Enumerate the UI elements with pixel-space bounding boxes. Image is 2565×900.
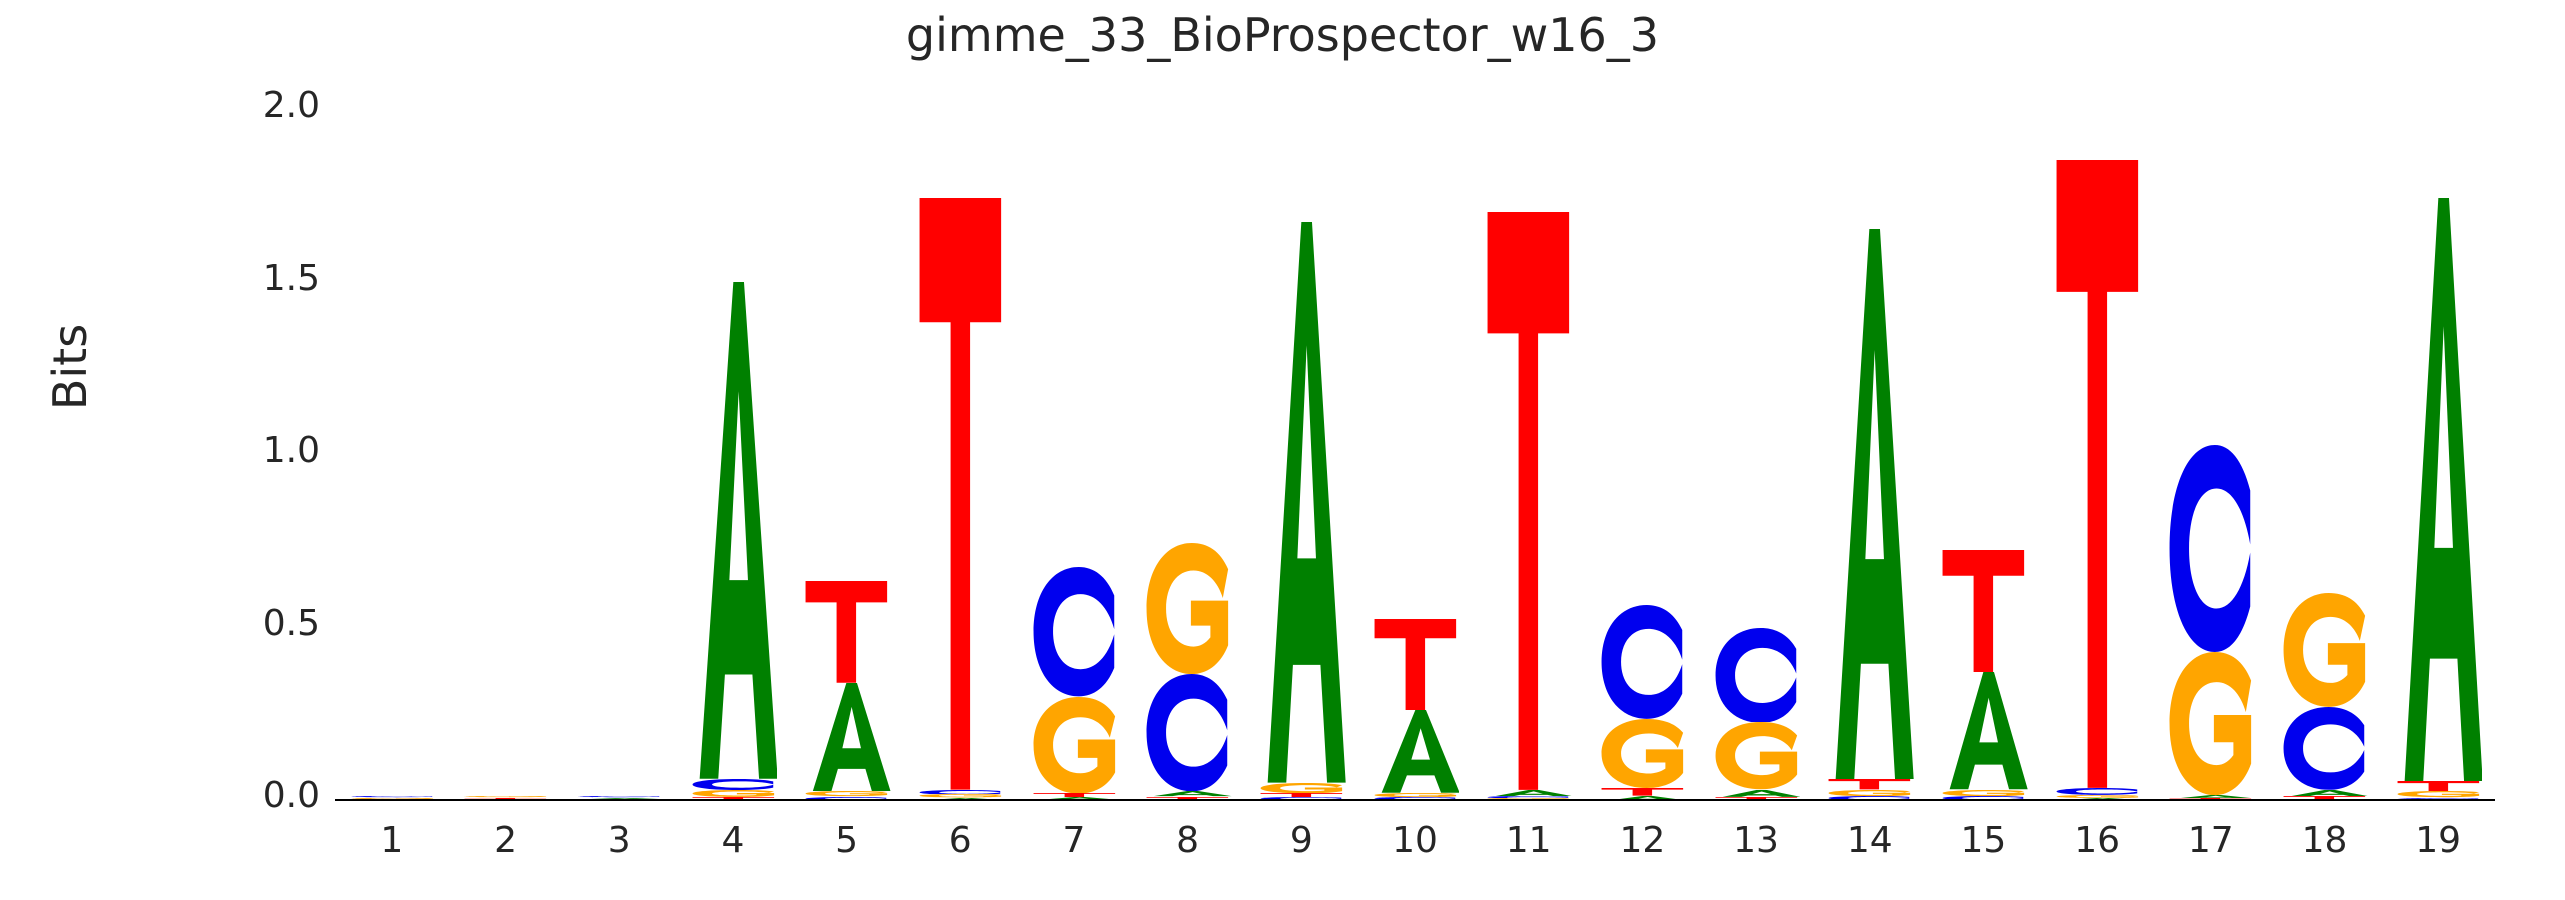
logo-letter-g [2280, 593, 2369, 707]
logo-letter-c [2053, 788, 2142, 795]
logo-letter-t [1371, 619, 1460, 710]
logo-letter-g [2166, 652, 2255, 795]
logo-letter-c [1712, 628, 1801, 723]
logo-letter-g [1939, 790, 2028, 796]
logo-letter-a [1143, 791, 1232, 796]
logo-letter-c [2280, 707, 2369, 790]
x-tick-label: 8 [1143, 820, 1233, 861]
logo-letter-c [2166, 445, 2255, 652]
logo-letter-a [1939, 672, 2028, 789]
logo-letter-c [689, 779, 778, 790]
x-tick-label: 17 [2166, 820, 2256, 861]
logo-letter-g [1371, 793, 1460, 797]
logo-letter-g [2053, 795, 2142, 798]
x-tick-label: 4 [688, 820, 778, 861]
logo-letter-t [1825, 779, 1914, 789]
logo-letter-a [2280, 790, 2369, 796]
x-tick-label: 18 [2279, 820, 2369, 861]
logo-letter-t [2394, 781, 2483, 791]
logo-letter-t [916, 198, 1005, 790]
logo-letter-c [1143, 674, 1232, 791]
logo-letter-t [1598, 788, 1687, 796]
x-tick-label: 1 [347, 820, 437, 861]
logo-plot-area [0, 0, 2565, 900]
logo-letter-t [802, 581, 891, 683]
logo-letter-g [1030, 697, 1119, 794]
logo-letter-g [689, 790, 778, 797]
x-tick-label: 6 [915, 820, 1005, 861]
logo-letter-c [575, 796, 664, 797]
logo-letter-t [1030, 793, 1119, 797]
logo-letter-t [1257, 793, 1346, 797]
logo-letter-a [1484, 790, 1573, 796]
x-tick-label: 5 [802, 820, 892, 861]
logo-letter-c [1030, 567, 1119, 696]
x-tick-label: 12 [1597, 820, 1687, 861]
logo-letter-g [1257, 783, 1346, 793]
x-tick-label: 3 [574, 820, 664, 861]
x-tick-label: 2 [461, 820, 551, 861]
logo-letter-g [461, 796, 550, 797]
logo-letter-g [1143, 543, 1232, 674]
logo-letter-g [2394, 791, 2483, 797]
logo-letter-a [2166, 795, 2255, 798]
logo-letter-a [1257, 222, 1346, 783]
logo-letter-a [1712, 790, 1801, 797]
logo-letter-c [916, 790, 1005, 795]
logo-letter-c [348, 796, 437, 797]
logo-letter-g [1825, 790, 1914, 796]
logo-letter-g [1598, 719, 1687, 788]
logo-letter-t [1939, 550, 2028, 672]
logo-letter-a [1371, 710, 1460, 793]
x-tick-label: 16 [2052, 820, 2142, 861]
logo-letter-g [916, 794, 1005, 797]
sequence-logo-figure: gimme_33_BioProspector_w16_3 Bits 0.00.5… [0, 0, 2565, 900]
x-tick-label: 15 [1938, 820, 2028, 861]
x-tick-label: 19 [2393, 820, 2483, 861]
logo-letter-t [1484, 212, 1573, 790]
logo-letter-a [689, 282, 778, 779]
logo-letter-c [1484, 796, 1573, 798]
logo-letter-a [1825, 229, 1914, 779]
x-tick-label: 11 [1484, 820, 1574, 861]
x-tick-label: 10 [1370, 820, 1460, 861]
logo-letter-a [802, 683, 891, 792]
logo-letter-g [802, 791, 891, 796]
logo-letter-a [2394, 198, 2483, 781]
logo-letter-t [2053, 160, 2142, 788]
x-tick-label: 14 [1825, 820, 1915, 861]
x-tick-label: 7 [1029, 820, 1119, 861]
logo-letter-c [1598, 605, 1687, 719]
x-tick-label: 13 [1711, 820, 1801, 861]
x-tick-label: 9 [1256, 820, 1346, 861]
x-axis-line [335, 799, 2495, 801]
logo-letter-g [1712, 722, 1801, 789]
